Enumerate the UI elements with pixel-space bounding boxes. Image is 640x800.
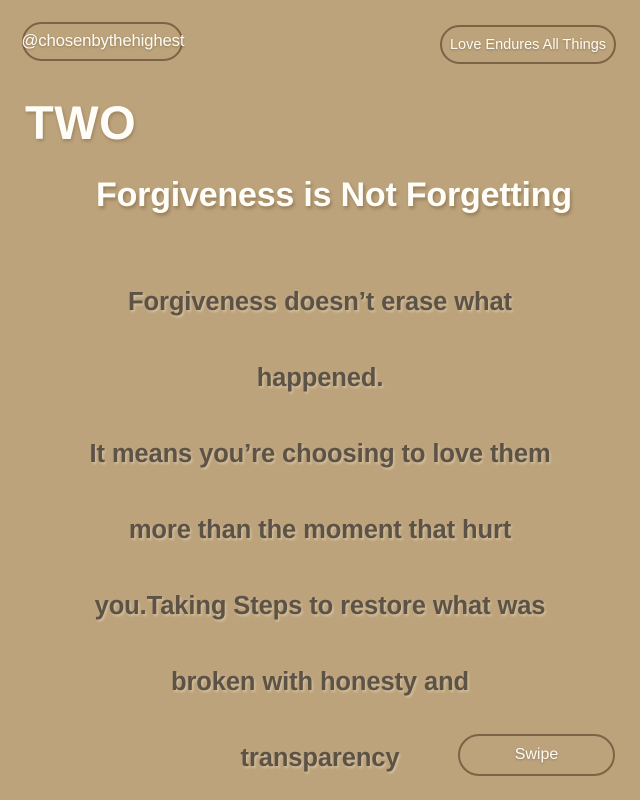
body-line: It means you’re choosing to love them — [20, 416, 620, 492]
body-line: happened. — [20, 340, 620, 416]
topic-pill[interactable]: Love Endures All Things — [440, 25, 616, 64]
social-post-slide: @chosenbythehighest Love Endures All Thi… — [0, 0, 640, 800]
topic-label: Love Endures All Things — [450, 37, 606, 53]
page-title: Forgiveness is Not Forgetting — [0, 175, 640, 216]
body-line: Forgiveness doesn’t erase what — [20, 264, 620, 340]
slide-number: TWO — [25, 99, 136, 146]
swipe-button-label: Swipe — [515, 746, 559, 764]
account-handle-label: @chosenbythehighest — [21, 32, 184, 51]
swipe-button[interactable]: Swipe — [458, 734, 615, 776]
account-handle-pill[interactable]: @chosenbythehighest — [22, 22, 183, 61]
body-text-block: Forgiveness doesn’t erase what happened.… — [0, 264, 640, 796]
body-line: you.Taking Steps to restore what was — [20, 568, 620, 644]
body-line: broken with honesty and — [20, 644, 620, 720]
body-line: more than the moment that hurt — [20, 492, 620, 568]
